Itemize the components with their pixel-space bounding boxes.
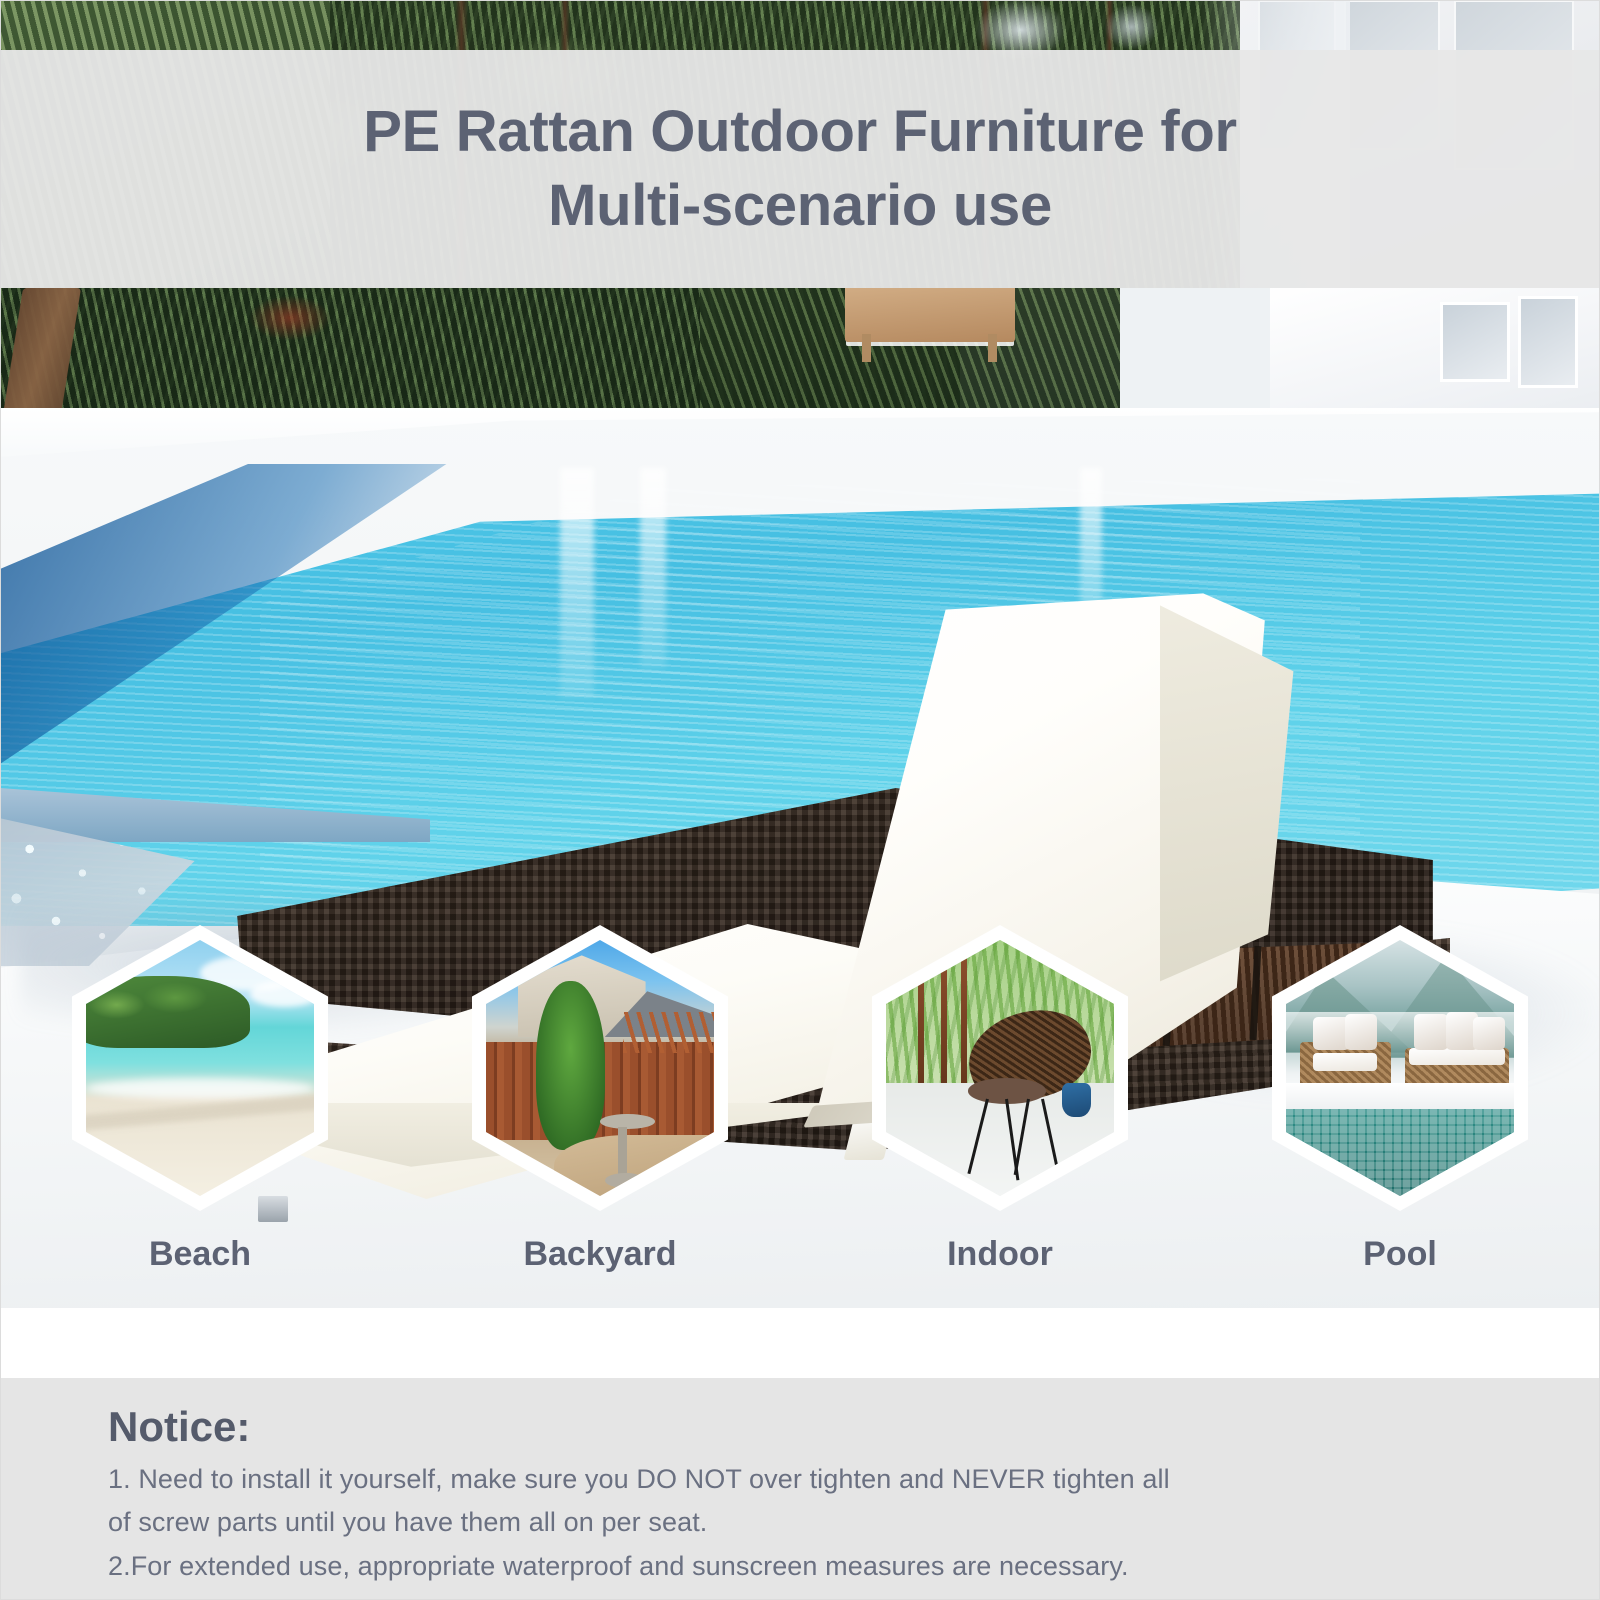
scenario-item-indoor[interactable]: Indoor (850, 925, 1150, 1274)
pergola (623, 1012, 714, 1053)
pool-thumbnail-icon (1286, 940, 1514, 1196)
cloud-2 (250, 981, 314, 1007)
product-marketing-page: PE Rattan Outdoor Furniture for Multi-sc… (0, 0, 1600, 1600)
notice-line-2: of screw parts until you have them all o… (108, 1501, 1600, 1545)
surf-line (86, 1078, 314, 1098)
sky-gap-2 (1104, 4, 1159, 50)
island-trees (86, 976, 250, 1048)
scenario-label-beach: Beach (149, 1235, 251, 1274)
hex-frame-pool[interactable] (1272, 925, 1528, 1211)
birdbath-stem (618, 1127, 627, 1178)
scenario-item-backyard[interactable]: Backyard (450, 925, 750, 1274)
armchair-seat-cushion (1313, 1053, 1377, 1071)
scenario-item-beach[interactable]: Beach (50, 925, 350, 1274)
daybed-pillow-3 (1473, 1017, 1505, 1050)
tiled-pool-water (1286, 1109, 1514, 1196)
scenario-hex-row: Beach Backyard (0, 925, 1600, 1295)
notice-line-1: 1. Need to install it yourself, make sur… (108, 1458, 1600, 1502)
title-banner: PE Rattan Outdoor Furniture for Multi-sc… (0, 50, 1600, 288)
page-title-line1: PE Rattan Outdoor Furniture for (363, 95, 1237, 169)
scenario-item-pool[interactable]: Pool (1250, 925, 1550, 1274)
white-divider (0, 1308, 1600, 1378)
indoor-thumbnail-icon (886, 940, 1114, 1196)
scenario-label-pool: Pool (1363, 1235, 1437, 1274)
page-title-line2: Multi-scenario use (363, 169, 1237, 243)
scenario-label-indoor: Indoor (947, 1235, 1053, 1274)
scenario-label-backyard: Backyard (523, 1235, 676, 1274)
notice-panel: Notice: 1. Need to install it yourself, … (0, 1378, 1600, 1600)
beach-thumbnail-icon (86, 940, 314, 1196)
stone-path (554, 1135, 714, 1196)
daybed-seat-cushion (1409, 1048, 1505, 1066)
birdbath-base (605, 1173, 646, 1188)
hex-frame-indoor[interactable] (872, 925, 1128, 1211)
hex-frame-backyard[interactable] (472, 925, 728, 1211)
pool-deck-edge (1286, 1083, 1514, 1109)
daybed-pillow-1 (1414, 1014, 1448, 1050)
green-bush (536, 981, 604, 1150)
armchair-pillow-2 (1345, 1014, 1377, 1050)
blue-plant-pot (1062, 1083, 1092, 1116)
backyard-thumbnail-icon (486, 940, 714, 1196)
notice-line-3: 2.For extended use, appropriate waterpro… (108, 1545, 1600, 1589)
page-title: PE Rattan Outdoor Furniture for Multi-sc… (363, 95, 1237, 243)
hex-frame-beach[interactable] (72, 925, 328, 1211)
notice-title: Notice: (108, 1402, 1600, 1452)
